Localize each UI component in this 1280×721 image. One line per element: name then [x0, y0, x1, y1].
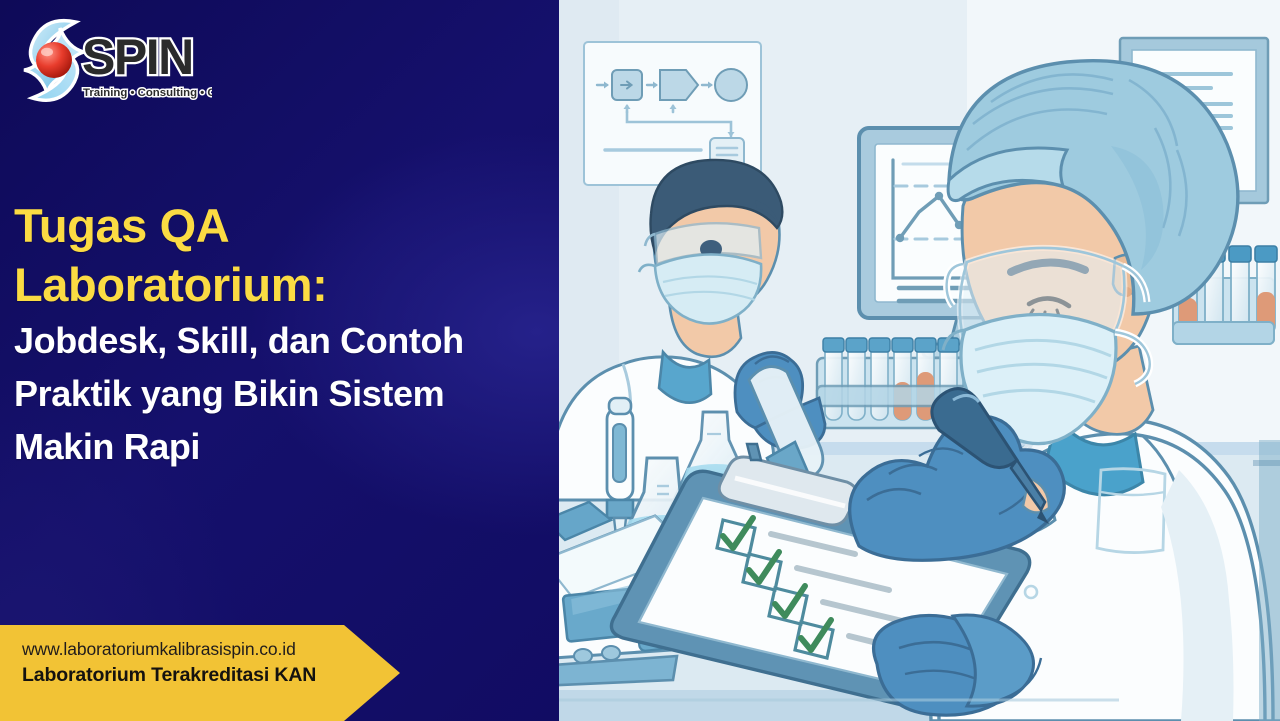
spin-logo[interactable]: SPIN Training • Consulting • Calibration — [16, 12, 212, 110]
title-accent-line-1: Tugas QA — [14, 196, 554, 255]
page-title: Tugas QA Laboratorium: Jobdesk, Skill, d… — [14, 196, 554, 473]
title-accent-line-2: Laboratorium: — [14, 255, 554, 314]
banner-website-url[interactable]: www.laboratoriumkalibrasispin.co.id — [22, 638, 372, 660]
title-body-line-2: Praktik yang Bikin Sistem — [14, 367, 554, 420]
title-body-line-1: Jobdesk, Skill, dan Contoh — [14, 314, 554, 367]
logo-wordmark: SPIN — [82, 29, 193, 85]
spin-swirl-mark — [24, 21, 84, 101]
website-banner[interactable]: www.laboratoriumkalibrasispin.co.id Labo… — [0, 625, 400, 721]
banner-accreditation-text: Laboratorium Terakreditasi KAN — [22, 663, 372, 688]
laboratory-illustration — [559, 0, 1280, 721]
logo-tagline: Training • Consulting • Calibration — [83, 87, 212, 99]
poster-canvas: SPIN Training • Consulting • Calibration… — [0, 0, 1280, 721]
title-body-line-3: Makin Rapi — [14, 420, 554, 473]
